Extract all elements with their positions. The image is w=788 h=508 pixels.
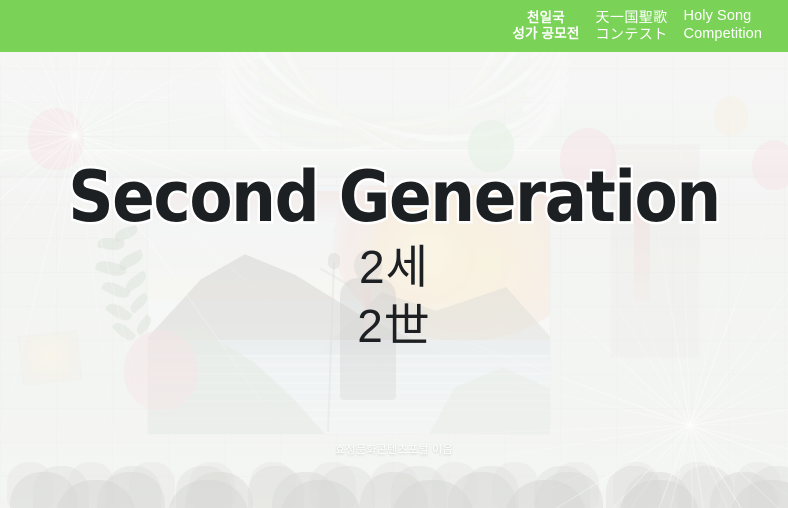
poster-canvas: 천일국 성가 공모전 天一国聖歌 コンテスト Holy Song Competi… (0, 0, 788, 508)
header-japanese-line2: コンテスト (596, 26, 668, 43)
background-photo (0, 0, 788, 508)
header-korean-line2: 성가 공모전 (512, 26, 579, 42)
header-bar: 천일국 성가 공모전 天一国聖歌 コンテスト Holy Song Competi… (0, 0, 788, 52)
header-english-line1: Holy Song (684, 8, 762, 26)
plant-leaf (123, 270, 149, 292)
header-english: Holy Song Competition (684, 8, 762, 43)
balloon (714, 96, 748, 136)
header-english-line2: Competition (684, 26, 762, 44)
balloon (468, 120, 514, 172)
audience-silhouettes (0, 318, 788, 508)
header-japanese: 天一国聖歌 コンテスト (596, 9, 668, 43)
header-japanese-line1: 天一国聖歌 (596, 9, 668, 26)
plant-leaf (117, 249, 146, 271)
balloon (28, 108, 84, 170)
plant-leaf (113, 225, 139, 242)
balloon (560, 128, 616, 190)
header-language-group: 천일국 성가 공모전 天一国聖歌 コンテスト Holy Song Competi… (512, 8, 762, 43)
balloon (752, 140, 788, 190)
header-korean: 천일국 성가 공모전 (512, 10, 579, 43)
plant-leaf (127, 292, 150, 314)
header-korean-line1: 천일국 (512, 10, 579, 26)
